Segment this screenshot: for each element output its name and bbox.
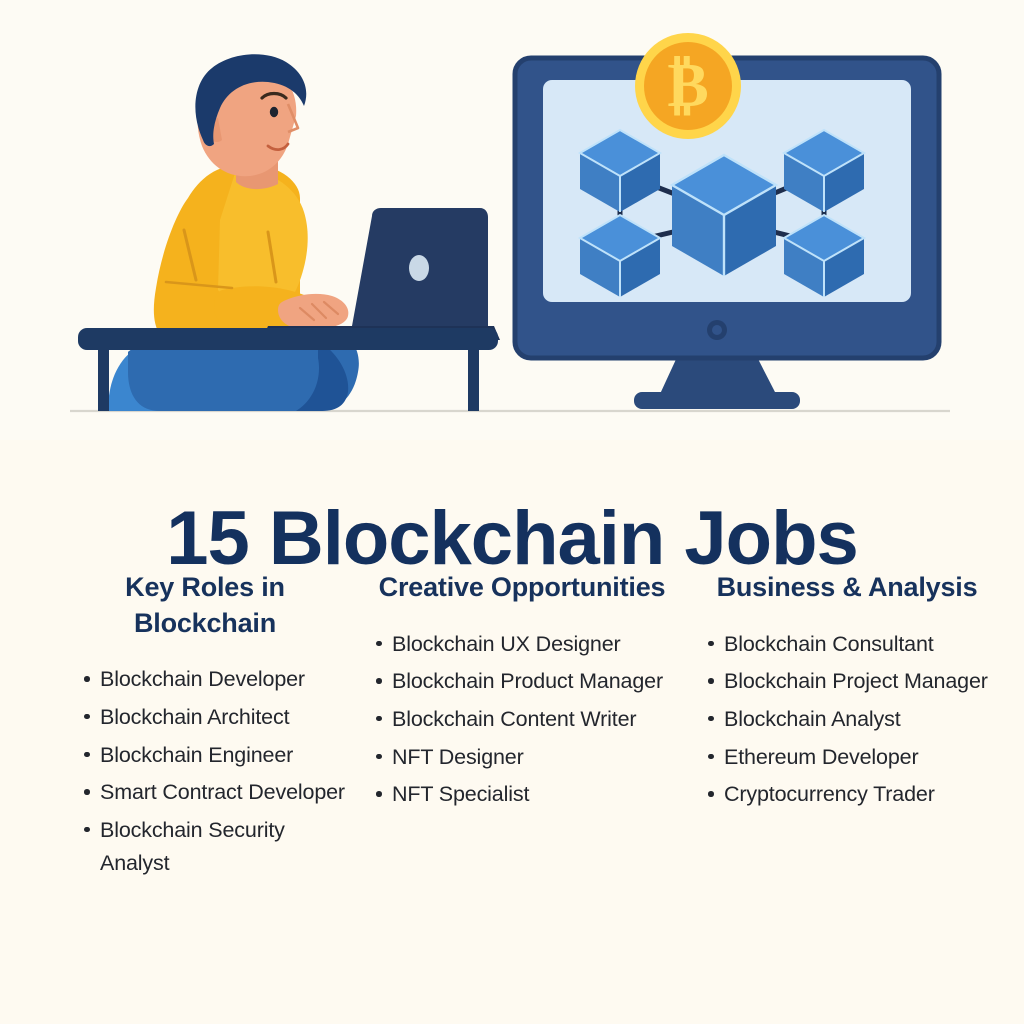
job-list-creative: Blockchain UX Designer Blockchain Produc… (360, 628, 684, 811)
hand (278, 294, 348, 328)
list-item: Blockchain Architect (84, 701, 350, 734)
job-list-business: Blockchain Consultant Blockchain Project… (690, 628, 1004, 811)
list-item: Blockchain Content Writer (376, 703, 684, 736)
list-item: Blockchain Consultant (708, 628, 1004, 661)
column-heading-creative: Creative Opportunities (360, 570, 684, 606)
column-heading-business: Business & Analysis (690, 570, 1004, 606)
list-item: Cryptocurrency Trader (708, 778, 1004, 811)
column-business-analysis: Business & Analysis Blockchain Consultan… (690, 570, 1004, 816)
job-list-key-roles: Blockchain Developer Blockchain Architec… (60, 663, 350, 879)
monitor-base (634, 392, 800, 409)
column-key-roles: Key Roles in Blockchain Blockchain Devel… (60, 570, 360, 884)
infographic-poster: ₿ 15 Blockchain Jobs Key Roles in Blockc… (0, 0, 1024, 1024)
desk-leg-left (98, 350, 109, 411)
list-item: Blockchain Engineer (84, 739, 350, 772)
bitcoin-coin-icon: ₿ (635, 33, 741, 139)
illustration-canvas: ₿ (0, 0, 1024, 440)
hero-illustration: ₿ (0, 0, 1024, 440)
job-columns: Key Roles in Blockchain Blockchain Devel… (60, 570, 1004, 884)
list-item: Blockchain Product Manager (376, 665, 684, 698)
list-item: Blockchain Developer (84, 663, 350, 696)
bitcoin-symbol: ₿ (667, 52, 708, 120)
list-item: Blockchain Analyst (708, 703, 1004, 736)
monitor-neck (660, 355, 776, 394)
eye (270, 107, 278, 117)
column-heading-key-roles: Key Roles in Blockchain (60, 570, 350, 641)
page-title: 15 Blockchain Jobs (0, 501, 1024, 577)
desk-top (78, 328, 498, 350)
desk-leg-right (468, 350, 479, 411)
list-item: Smart Contract Developer (84, 776, 350, 809)
list-item: Blockchain Project Manager (708, 665, 1004, 698)
list-item: NFT Specialist (376, 778, 684, 811)
list-item: Blockchain UX Designer (376, 628, 684, 661)
monitor: ₿ (515, 33, 939, 409)
list-item: Blockchain Security Analyst (84, 814, 350, 879)
list-item: NFT Designer (376, 741, 684, 774)
column-creative-opportunities: Creative Opportunities Blockchain UX Des… (360, 570, 690, 816)
laptop-logo (409, 255, 429, 281)
list-item: Ethereum Developer (708, 741, 1004, 774)
